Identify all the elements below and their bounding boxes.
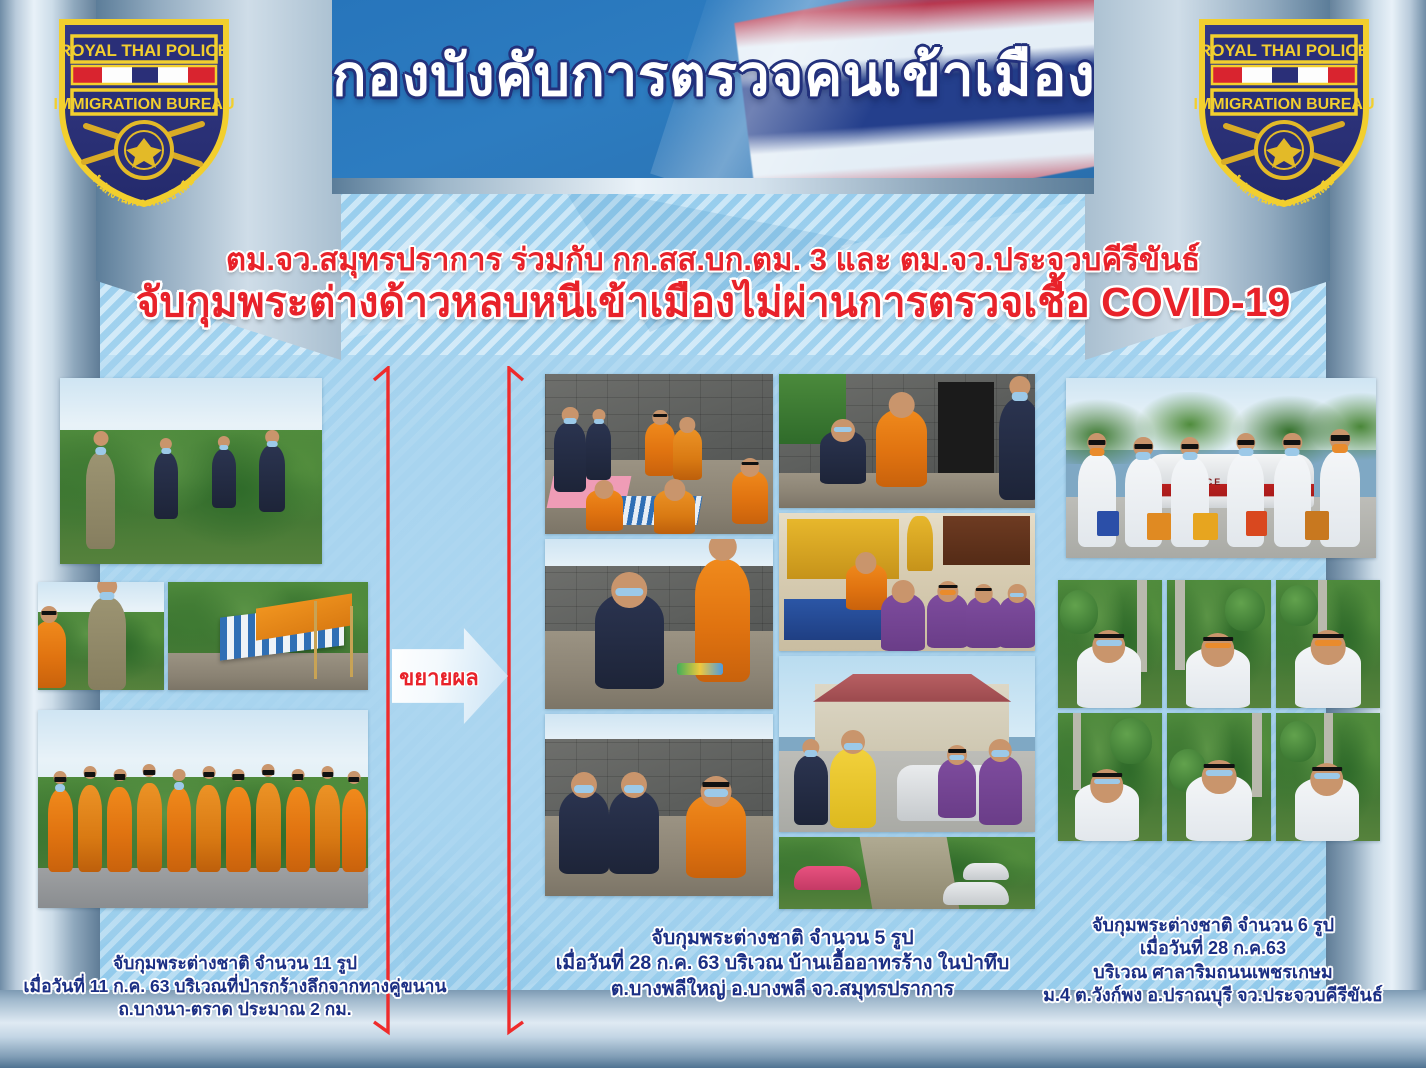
- photo-mugshot-1: [1058, 580, 1162, 708]
- banner-bottom-edge: [332, 178, 1094, 194]
- photo-mugshot-5: [1167, 713, 1271, 841]
- figure-officer: [259, 445, 285, 512]
- figure-monk: [48, 789, 73, 872]
- dark-doorway: [938, 382, 994, 478]
- figure-monk: [654, 489, 695, 534]
- figure-monk: [256, 783, 281, 872]
- figure-detainee-portrait: [1186, 774, 1253, 841]
- figure-officer: [999, 398, 1035, 500]
- figure-officer-crouching: [559, 790, 609, 874]
- figure-monk: [342, 789, 367, 872]
- photo-officers-searching-overgrown-field: [60, 378, 322, 564]
- center-photo-column: [545, 374, 1035, 909]
- police-badge-icon: ROYAL THAI POLICE IMMIGRATION BUREAU สำน…: [1190, 12, 1378, 208]
- figure-monk: [107, 787, 132, 872]
- figure-officer: [586, 422, 611, 480]
- bamboo-pole: [314, 601, 317, 679]
- photo-officers-and-monks-seated-on-mats: [545, 374, 773, 534]
- royal-thai-police-badge-right: ROYAL THAI POLICE IMMIGRATION BUREAU สำน…: [1190, 12, 1378, 208]
- figure-monk: [732, 470, 768, 524]
- concrete-post: [1252, 713, 1261, 797]
- header-banner: กองบังคับการตรวจคนเข้าเมือง 3: [332, 0, 1094, 178]
- subtitle-block: ตม.จว.สมุทรปราการ ร่วมกับ กก.สส.บก.ตม. 3…: [0, 243, 1426, 326]
- belongings-bag: [1246, 511, 1268, 536]
- caption-left-line-2: เมื่อวันที่ 11 ก.ค. 63 บริเวณที่ป่ารกร้า…: [0, 975, 470, 998]
- figure-detainee: [979, 755, 1023, 825]
- figure-monk: [196, 785, 221, 872]
- figure-detainee-portrait: [1295, 644, 1362, 708]
- figure-monk: [38, 621, 66, 688]
- left-photo-column: [38, 378, 368, 908]
- figure-detainee-portrait: [1186, 647, 1250, 708]
- expand-result-arrow: ขยายผล: [392, 628, 508, 724]
- buddha-statue: [907, 516, 933, 571]
- figure-officer-crouching: [595, 593, 663, 688]
- wooden-doors: [943, 516, 1030, 566]
- photo-six-detainees-with-belongings-by-police-car: POLICE: [1066, 378, 1376, 558]
- photo-officer-crouching-collecting-evidence: [545, 539, 773, 709]
- figure-detainee-portrait: [1295, 777, 1359, 841]
- belongings-bag: [1147, 513, 1172, 540]
- photo-mugshot-3: [1276, 580, 1380, 708]
- photo-makeshift-tarpaulin-shelter-camp: [168, 582, 368, 690]
- plant: [1280, 721, 1315, 762]
- concrete-post: [1175, 580, 1184, 670]
- caption-center-line-3: ต.บางพลีใหญ่ อ.บางพลี จว.สมุทรปราการ: [510, 977, 1055, 1002]
- poster-root: กองบังคับการตรวจคนเข้าเมือง 3 ROYAL THAI…: [0, 0, 1426, 1068]
- plant: [1110, 718, 1152, 764]
- page-title: กองบังคับการตรวจคนเข้าเมือง 3: [332, 48, 1094, 105]
- figure-police: [88, 597, 126, 690]
- figure-detainee-portrait: [1077, 644, 1141, 708]
- belongings-bag: [1305, 511, 1330, 540]
- subtitle-line-2: จับกุมพระต่างด้าวหลบหนีเข้าเมืองไม่ผ่านก…: [0, 280, 1426, 326]
- plant: [1060, 590, 1097, 634]
- evidence-items: [677, 663, 723, 675]
- figure-officer: [154, 452, 178, 519]
- figure-officer-crouching: [609, 790, 659, 874]
- figure-detainee: [966, 596, 1002, 648]
- caption-center-line-1: จับกุมพระต่างชาติ จำนวน 5 รูป: [510, 926, 1055, 951]
- figure-monk: [226, 787, 251, 872]
- caption-center-line-2: เมื่อวันที่ 28 ก.ค. 63 บริเวณ บ้านเอื้ออ…: [510, 951, 1055, 976]
- badge-mid-text: IMMIGRATION BUREAU: [1193, 96, 1374, 113]
- badge-top-text: ROYAL THAI POLICE: [1199, 41, 1369, 60]
- photo-ground: [168, 653, 368, 690]
- plant: [1225, 588, 1265, 632]
- photo-vehicles-on-dirt-track: [779, 837, 1035, 909]
- photo-mugshot-6: [1276, 713, 1380, 841]
- figure-officer: [212, 449, 236, 509]
- photo-group-of-eleven-monks-lined-up-roadside: [38, 710, 368, 908]
- figure-monk: [673, 428, 703, 479]
- figure-monk: [315, 785, 340, 872]
- badge-flag-stripes: [1212, 66, 1356, 84]
- figure-monk: [167, 787, 192, 872]
- center-photo-grid: [545, 374, 1035, 909]
- photo-road: [38, 868, 368, 908]
- photo-police-officer-questioning-monk: [38, 582, 164, 690]
- figure-monk: [645, 422, 675, 476]
- figure-staff: [794, 755, 827, 825]
- photo-monk-bowing-against-block-wall: [779, 374, 1035, 508]
- silver-car: [963, 863, 1009, 880]
- red-divider-left: [372, 366, 394, 1038]
- caption-right-line-1: จับกุมพระต่างชาติ จำนวน 6 รูป: [1000, 914, 1426, 937]
- royal-thai-police-badge-left: ROYAL THAI POLICE IMMIGRATION BUREAU สำน…: [50, 12, 238, 208]
- caption-right-line-4: ม.4 ต.วังก์พง อ.ปราณบุรี จว.ประจวบคีรีขั…: [1000, 984, 1426, 1007]
- figure-health-worker: [830, 748, 876, 829]
- bamboo-pole: [350, 606, 353, 677]
- silver-car: [943, 882, 1010, 905]
- caption-center: จับกุมพระต่างชาติ จำนวน 5 รูป เมื่อวันที…: [510, 926, 1055, 1002]
- figure-detainee: [927, 593, 968, 648]
- photo-monk-in-temple-shrine-with-detainees: [779, 513, 1035, 651]
- figure-monk-seated: [846, 563, 887, 610]
- photo-two-officers-questioning-seated-monk: [545, 714, 773, 896]
- figure-monk-bowing: [876, 409, 927, 487]
- figure-monk: [286, 787, 311, 872]
- subtitle-line-1: ตม.จว.สมุทรปราการ ร่วมกับ กก.สส.บก.ตม. 3…: [0, 243, 1426, 278]
- figure-monk: [137, 783, 162, 872]
- figure-detainee: [999, 596, 1035, 648]
- left-photo-row: [38, 582, 368, 690]
- figure-detainee: [938, 758, 976, 818]
- caption-right-line-3: บริเวณ ศาลาริมถนนเพชรเกษม: [1000, 961, 1426, 984]
- pink-car: [794, 866, 861, 890]
- figure-officer-crouching: [820, 430, 866, 484]
- plant: [1280, 585, 1317, 626]
- photo-temperature-screening-at-station: [779, 656, 1035, 832]
- belongings-bag: [1193, 513, 1218, 540]
- belongings-bag: [1097, 511, 1119, 536]
- caption-right-line-2: เมื่อวันที่ 28 ก.ค.63: [1000, 937, 1426, 960]
- concrete-post: [1073, 713, 1081, 790]
- right-photo-column: POLICE: [1058, 378, 1403, 841]
- figure-monk-seated: [686, 794, 745, 878]
- caption-left: จับกุมพระต่างชาติ จำนวน 11 รูป เมื่อวันท…: [0, 952, 470, 1020]
- arrow-label: ขยายผล: [396, 660, 482, 695]
- badge-mid-text: IMMIGRATION BUREAU: [53, 96, 234, 113]
- police-badge-icon: ROYAL THAI POLICE IMMIGRATION BUREAU สำน…: [50, 12, 238, 208]
- figure-monk: [586, 489, 622, 531]
- photo-mugshot-2: [1167, 580, 1271, 708]
- figure-police: [86, 452, 115, 549]
- figure-officer: [554, 422, 586, 492]
- center-subcolumn-b: [779, 374, 1035, 909]
- caption-left-line-1: จับกุมพระต่างชาติ จำนวน 11 รูป: [0, 952, 470, 975]
- figure-detainee: [881, 593, 925, 651]
- mugshot-row: [1058, 580, 1403, 708]
- center-subcolumn-a: [545, 374, 773, 909]
- caption-left-line-3: ถ.บางนา-ตราด ประมาณ 2 กม.: [0, 998, 470, 1021]
- badge-top-text: ROYAL THAI POLICE: [59, 41, 229, 60]
- photo-mugshot-4: [1058, 713, 1162, 841]
- mugshot-row: [1058, 713, 1403, 841]
- caption-right: จับกุมพระต่างชาติ จำนวน 6 รูป เมื่อวันที…: [1000, 914, 1426, 1008]
- figure-monk: [78, 785, 103, 872]
- badge-flag-stripes: [72, 66, 216, 84]
- figure-detainee-portrait: [1075, 782, 1139, 841]
